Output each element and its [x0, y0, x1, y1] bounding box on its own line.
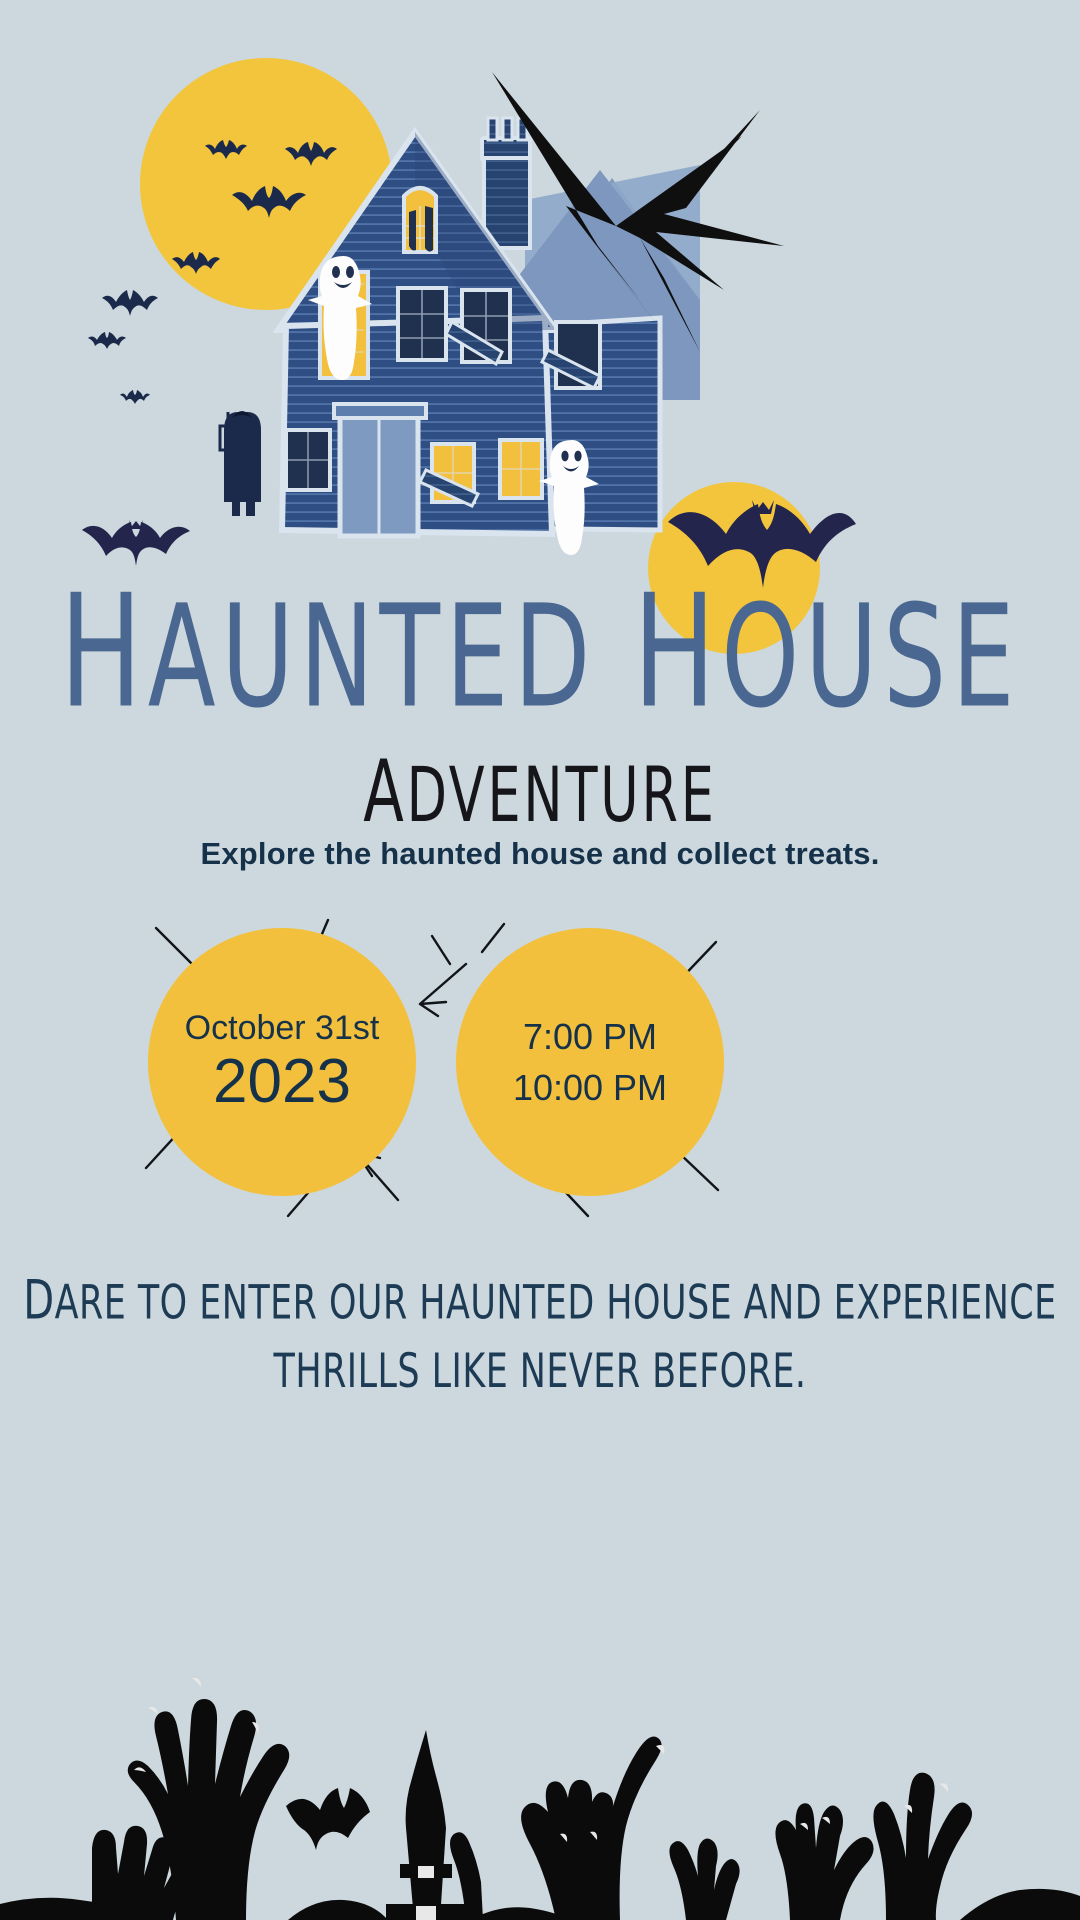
event-description: Explore the haunted house and collect tr… [0, 836, 1080, 872]
haunted-house-illustration [0, 0, 1080, 620]
title-rest-1: AUNTED [148, 575, 633, 740]
event-date-badge: October 31st 2023 [148, 928, 416, 1196]
tagline-cap: D [23, 1268, 54, 1332]
page-title: HAUNTED HOUSE [27, 575, 1053, 731]
halloween-poster: HAUNTED HOUSE ADVENTURE Explore the haun… [0, 0, 1080, 1920]
title-cap-h1: H [60, 562, 148, 744]
page-subtitle: ADVENTURE [32, 749, 1047, 834]
event-date-label: October 31st [185, 1010, 380, 1047]
title-cap-h2: H [633, 562, 721, 744]
event-time-start: 7:00 PM [523, 1011, 657, 1062]
event-tagline: DARE TO ENTER OUR HAUNTED HOUSE AND EXPE… [16, 1262, 1064, 1406]
subtitle-rest: DVENTURE [407, 750, 717, 839]
zombie-hands-silhouette [0, 1620, 1080, 1920]
tagline-rest: ARE TO ENTER OUR HAUNTED HOUSE AND EXPER… [55, 1276, 1057, 1330]
event-time-end: 10:00 PM [513, 1062, 667, 1113]
event-time-badge: 7:00 PM 10:00 PM [456, 928, 724, 1196]
title-block: HAUNTED HOUSE ADVENTURE [0, 575, 1080, 819]
title-rest-2: OUSE [721, 575, 1020, 740]
event-year: 2023 [213, 1049, 351, 1114]
subtitle-cap: A [363, 742, 406, 842]
tagline-line-2: THRILLS LIKE NEVER BEFORE. [16, 1339, 1064, 1406]
tagline-line-1: DARE TO ENTER OUR HAUNTED HOUSE AND EXPE… [16, 1262, 1064, 1339]
